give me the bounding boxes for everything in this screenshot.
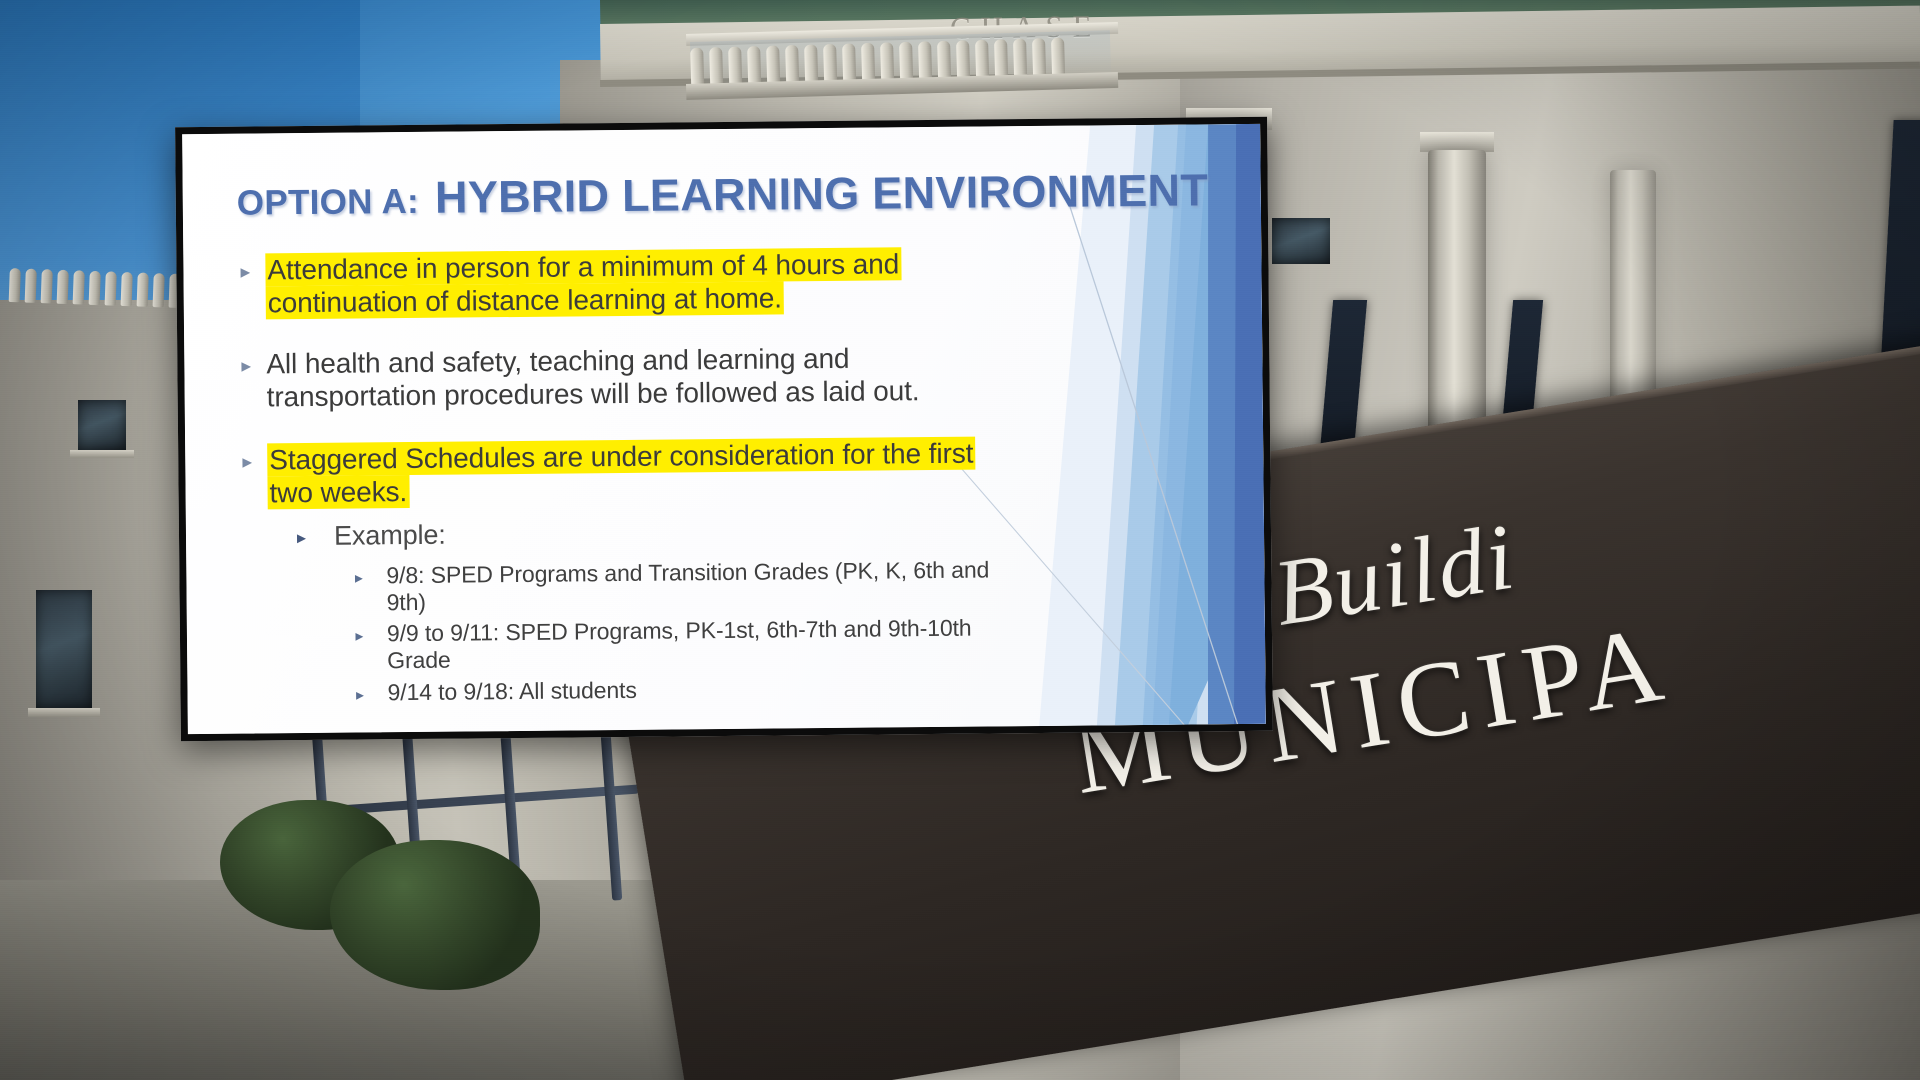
slide-title-main: HYBRID LEARNING ENVIRONMENT (435, 164, 1209, 222)
bullet-item: ► All health and safety, teaching and le… (238, 340, 1013, 413)
bullet-marker-icon: ► (353, 621, 387, 643)
slide-title: OPTION A:HYBRID LEARNING ENVIRONMENT (237, 166, 1011, 225)
bullet-text: Staggered Schedules are under considerat… (267, 436, 1014, 509)
bullet-text-highlight: Attendance in person for a minimum of 4 … (265, 247, 901, 319)
sub-bullet-text: Example: (334, 520, 446, 553)
bullet-marker-icon: ► (294, 521, 334, 546)
bullet-text: All health and safety, teaching and lear… (266, 340, 1013, 413)
sub-sub-bullet-text: 9/14 to 9/18: All students (387, 676, 637, 706)
slide-title-lead: OPTION A: (237, 182, 420, 223)
sub-sub-bullet-text: 9/9 to 9/11: SPED Programs, PK-1st, 6th-… (387, 615, 1015, 675)
building-window (78, 400, 126, 450)
presentation-slide-overlay: OPTION A:HYBRID LEARNING ENVIRONMENT ► A… (175, 117, 1273, 741)
slide-canvas: OPTION A:HYBRID LEARNING ENVIRONMENT ► A… (182, 124, 1266, 734)
window-ledge (28, 708, 100, 717)
window-ledge (70, 450, 134, 458)
slide-content: OPTION A:HYBRID LEARNING ENVIRONMENT ► A… (237, 166, 1016, 711)
bullet-marker-icon: ► (238, 347, 266, 375)
bullet-item: ► Attendance in person for a minimum of … (237, 246, 1012, 319)
building-window (36, 590, 92, 708)
sub-bullet-item: ► Example: (294, 514, 1014, 553)
bullet-marker-icon: ► (239, 444, 267, 472)
sub-sub-bullet-item: ► 9/14 to 9/18: All students (353, 673, 1015, 706)
sub-sub-bullet-text: 9/8: SPED Programs and Transition Grades… (386, 556, 1014, 616)
bullet-marker-icon: ► (237, 253, 265, 281)
sub-sub-bullet-item: ► 9/9 to 9/11: SPED Programs, PK-1st, 6t… (353, 615, 1015, 676)
bullet-marker-icon: ► (353, 679, 387, 701)
bullet-marker-icon: ► (352, 562, 386, 584)
building-window (1272, 218, 1330, 264)
bullet-text-highlight: Staggered Schedules are under considerat… (267, 437, 975, 510)
bullet-item: ► Staggered Schedules are under consider… (239, 436, 1014, 509)
sub-sub-bullet-item: ► 9/8: SPED Programs and Transition Grad… (352, 556, 1014, 617)
column-capital (1420, 132, 1494, 152)
bullet-text: Attendance in person for a minimum of 4 … (265, 246, 1012, 319)
